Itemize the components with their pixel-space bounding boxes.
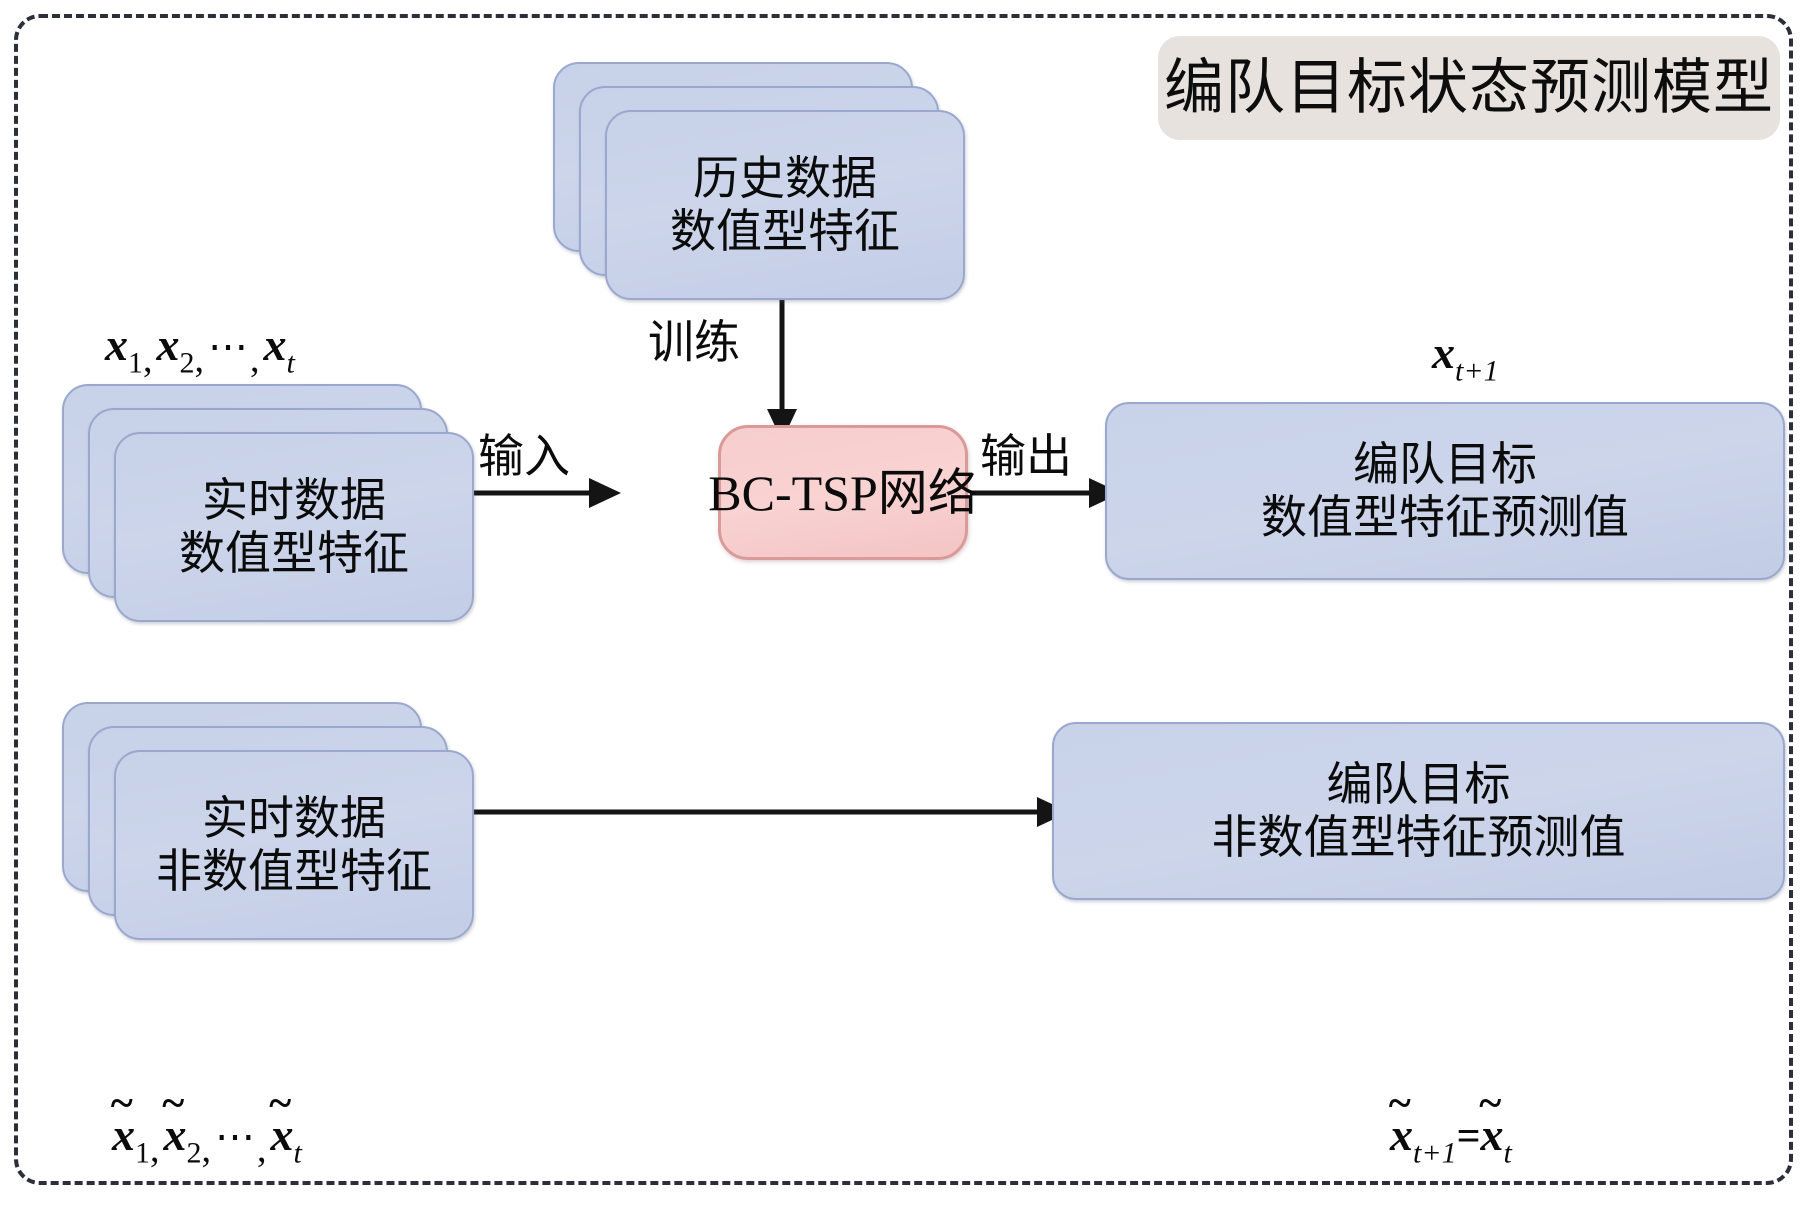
- math-sub-t-plus-1: t+1: [1455, 355, 1499, 388]
- node-output-numeric[interactable]: 编队目标 数值型特征预测值: [1105, 402, 1785, 580]
- math-var-x2: x: [157, 319, 180, 370]
- tilde-accent-icon: ~: [1389, 1083, 1411, 1125]
- stack-layer-front: 实时数据 数值型特征: [114, 432, 474, 622]
- node-output-numeric-label: 编队目标 数值型特征预测值: [1261, 438, 1629, 545]
- edge-label-train-text: 训练: [648, 317, 740, 368]
- edge-label-input-text: 输入: [478, 431, 570, 482]
- tilde-accent-icon: ~: [269, 1083, 291, 1125]
- math-input-sequence-tilde: ~x1, ~x2, ⋯, ~xt: [112, 1112, 302, 1169]
- diagram-canvas: 编队目标状态预测模型 历史数据 数值型特征 实时数据 数值型特征: [0, 0, 1819, 1207]
- math-var-xt-tilde: ~x: [271, 1109, 294, 1160]
- math-var-x-next: x: [1432, 327, 1455, 378]
- math-ellipsis: ⋯: [208, 324, 250, 369]
- node-realtime-numeric[interactable]: 实时数据 数值型特征: [62, 384, 474, 622]
- math-sub-t-plus-1: t+1: [1413, 1137, 1457, 1170]
- math-comma-3: ,: [257, 1128, 267, 1170]
- math-sub-t: t: [1504, 1137, 1512, 1170]
- math-input-sequence: x1, x2, ⋯, xt: [105, 322, 295, 379]
- math-output-next-tilde: ~xt+1=~xt: [1390, 1112, 1512, 1169]
- math-sub-t: t: [287, 347, 295, 380]
- math-sub-2: 2: [187, 1137, 202, 1170]
- math-var-x-next-tilde: ~x: [1390, 1109, 1413, 1160]
- node-historical-data-label: 历史数据 数值型特征: [664, 152, 906, 259]
- edge-label-train: 训练: [648, 320, 740, 366]
- math-var-x2-tilde: ~x: [164, 1109, 187, 1160]
- node-realtime-nonnumeric[interactable]: 实时数据 非数值型特征: [62, 702, 474, 940]
- math-sub-2: 2: [180, 347, 195, 380]
- edge-label-input: 输入: [478, 434, 570, 480]
- node-output-nonnumeric[interactable]: 编队目标 非数值型特征预测值: [1052, 722, 1785, 900]
- edge-label-output-text: 输出: [980, 431, 1072, 482]
- node-realtime-numeric-label: 实时数据 数值型特征: [173, 474, 415, 581]
- math-output-next: xt+1: [1432, 330, 1499, 387]
- stack-layer-front: 历史数据 数值型特征: [605, 110, 965, 300]
- node-bc-tsp-network[interactable]: BC-TSP网络: [718, 425, 968, 560]
- math-comma-2: ,: [202, 1128, 212, 1170]
- node-output-nonnumeric-label: 编队目标 非数值型特征预测值: [1212, 758, 1626, 865]
- math-sub-1: 1: [135, 1137, 150, 1170]
- math-comma-1: ,: [150, 1128, 160, 1170]
- math-var-x1-tilde: ~x: [112, 1109, 135, 1160]
- math-ellipsis: ⋯: [215, 1114, 257, 1159]
- edge-label-output: 输出: [980, 434, 1072, 480]
- tilde-accent-icon: ~: [1479, 1083, 1501, 1125]
- tilde-accent-icon: ~: [162, 1083, 184, 1125]
- math-comma-3: ,: [250, 338, 260, 380]
- stack-layer-front: 实时数据 非数值型特征: [114, 750, 474, 940]
- math-var-x1: x: [105, 319, 128, 370]
- node-realtime-nonnumeric-label: 实时数据 非数值型特征: [150, 792, 438, 899]
- math-comma-1: ,: [143, 338, 153, 380]
- math-var-xt: x: [264, 319, 287, 370]
- math-sub-t: t: [294, 1137, 302, 1170]
- math-comma-2: ,: [195, 338, 205, 380]
- node-bc-tsp-network-label: BC-TSP网络: [708, 468, 978, 518]
- math-var-x-t-tilde: ~x: [1481, 1109, 1504, 1160]
- math-equals-sign: =: [1457, 1114, 1481, 1160]
- math-sub-1: 1: [128, 347, 143, 380]
- tilde-accent-icon: ~: [111, 1083, 133, 1125]
- node-historical-data[interactable]: 历史数据 数值型特征: [553, 62, 965, 300]
